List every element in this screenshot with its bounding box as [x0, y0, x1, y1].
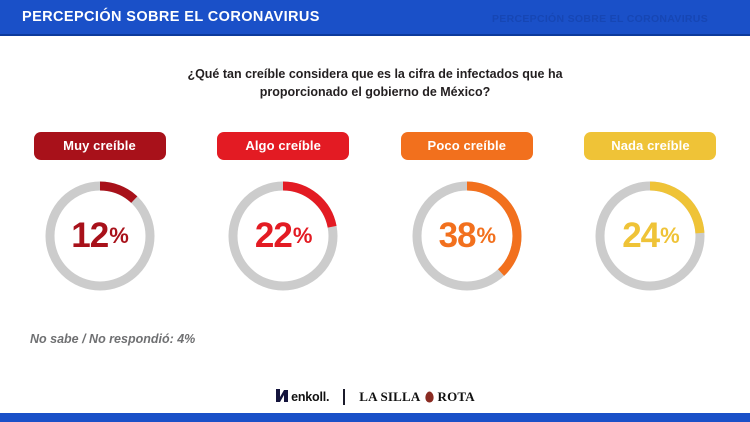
- enkoll-mark-icon: [275, 388, 289, 406]
- percent-sign: %: [660, 223, 679, 249]
- donut-value-nada-creible: 24 %: [590, 176, 710, 296]
- silla-wordmark-right: ROTA: [438, 389, 475, 405]
- enkoll-wordmark: enkoll.: [291, 390, 329, 404]
- category-badge-poco-creible: Poco creíble: [401, 132, 533, 160]
- page-header: PERCEPCIÓN SOBRE EL CORONAVIRUS PERCEPCI…: [0, 0, 750, 36]
- category-badge-algo-creible: Algo creíble: [217, 132, 349, 160]
- donut-number: 22: [255, 216, 292, 256]
- donut-number: 12: [71, 216, 108, 256]
- donut-number: 24: [622, 216, 659, 256]
- category-badge-nada-creible: Nada creíble: [584, 132, 716, 160]
- donut-column-muy-creible: Muy creíble 12 %: [12, 132, 187, 296]
- donut-value-poco-creible: 38 %: [407, 176, 527, 296]
- donut-column-nada-creible: Nada creíble 24 %: [563, 132, 738, 296]
- enkoll-glyph-icon: [275, 388, 289, 403]
- survey-question: ¿Qué tan creíble considera que es la cif…: [0, 66, 750, 102]
- bottom-accent-bar: [0, 413, 750, 422]
- no-response-note: No sabe / No respondió: 4%: [30, 332, 195, 346]
- page-title: PERCEPCIÓN SOBRE EL CORONAVIRUS: [22, 9, 320, 25]
- footer-logos: enkoll. LA SILLA ROTA: [0, 388, 750, 406]
- silla-wordmark-left: LA SILLA: [359, 389, 420, 405]
- logo-la-silla-rota: LA SILLA ROTA: [359, 389, 475, 405]
- percent-sign: %: [109, 223, 128, 249]
- category-badge-muy-creible: Muy creíble: [34, 132, 166, 160]
- donut-number: 38: [439, 216, 476, 256]
- percent-sign: %: [293, 223, 312, 249]
- donut-value-algo-creible: 22 %: [223, 176, 343, 296]
- donut-value-muy-creible: 12 %: [40, 176, 160, 296]
- chair-icon: [424, 391, 435, 403]
- donut-chart-nada-creible: 24 %: [590, 176, 710, 296]
- chair-glyph-icon: [424, 391, 435, 403]
- donut-chart-poco-creible: 38 %: [407, 176, 527, 296]
- header-watermark: PERCEPCIÓN SOBRE EL CORONAVIRUS: [492, 13, 708, 25]
- logo-enkoll: enkoll.: [275, 388, 329, 406]
- footer-divider: [343, 389, 345, 405]
- donut-group: Muy creíble 12 % Algo creíble 22 %: [12, 132, 738, 296]
- donut-chart-muy-creible: 12 %: [40, 176, 160, 296]
- donut-column-algo-creible: Algo creíble 22 %: [196, 132, 371, 296]
- donut-column-poco-creible: Poco creíble 38 %: [379, 132, 554, 296]
- donut-chart-algo-creible: 22 %: [223, 176, 343, 296]
- percent-sign: %: [477, 223, 496, 249]
